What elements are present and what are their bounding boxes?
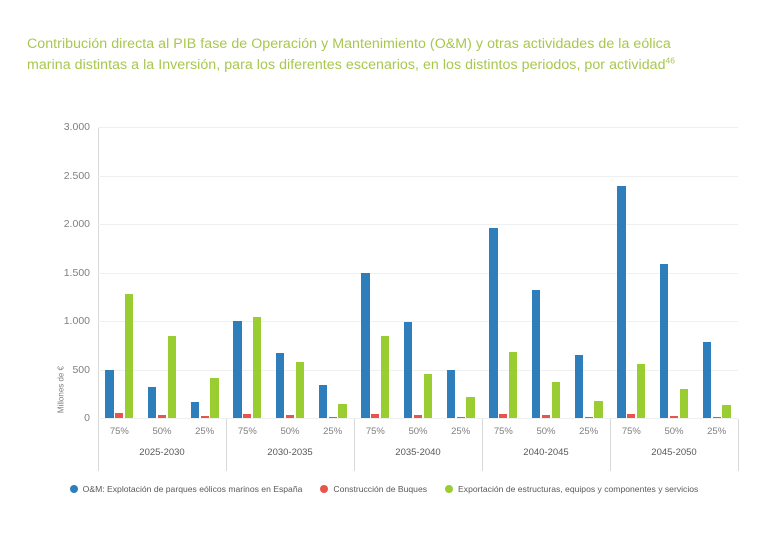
bar[interactable]: [253, 317, 261, 418]
x-axis-scenario-label: 75%: [494, 426, 513, 437]
bar[interactable]: [210, 378, 218, 418]
gridline: [98, 224, 738, 225]
legend-marker-icon: [70, 485, 78, 493]
gridline: [98, 321, 738, 322]
bar[interactable]: [286, 415, 294, 418]
x-axis-scenario-label: 75%: [238, 426, 257, 437]
bar[interactable]: [713, 417, 721, 418]
chart-legend: O&M: Explotación de parques eólicos mari…: [0, 484, 768, 494]
bar[interactable]: [637, 364, 645, 418]
x-axis-scenario-label: 75%: [110, 426, 129, 437]
bar[interactable]: [125, 294, 133, 418]
legend-item[interactable]: Construcción de Buques: [320, 484, 427, 494]
bar[interactable]: [105, 370, 113, 418]
bar[interactable]: [552, 382, 560, 418]
x-axis-group-separator: [98, 419, 99, 471]
legend-item[interactable]: O&M: Explotación de parques eólicos mari…: [70, 484, 303, 494]
bar[interactable]: [424, 374, 432, 418]
bar[interactable]: [499, 414, 507, 418]
bar[interactable]: [509, 352, 517, 418]
title-line-1: Contribución directa al PIB fase de Oper…: [27, 36, 594, 52]
bar[interactable]: [466, 397, 474, 418]
x-axis-group-separator: [738, 419, 739, 471]
bar[interactable]: [404, 322, 412, 418]
plot-area: [98, 127, 738, 418]
bar[interactable]: [532, 290, 540, 418]
bar[interactable]: [489, 228, 497, 418]
bar[interactable]: [457, 417, 465, 418]
legend-item-label: Exportación de estructuras, equipos y co…: [458, 484, 698, 494]
y-axis-tick-label: 2.500: [30, 170, 90, 182]
y-axis-tick-label: 1.000: [30, 315, 90, 327]
bar[interactable]: [542, 415, 550, 418]
bar[interactable]: [296, 362, 304, 418]
bar[interactable]: [329, 417, 337, 418]
bar[interactable]: [371, 414, 379, 418]
bar[interactable]: [575, 355, 583, 418]
legend-marker-icon: [445, 485, 453, 493]
x-axis-scenario-label: 50%: [152, 426, 171, 437]
y-axis-tick-label: 500: [30, 364, 90, 376]
bar[interactable]: [319, 385, 327, 418]
x-axis-period-label: 2045-2050: [651, 447, 696, 458]
x-axis-period-label: 2040-2045: [523, 447, 568, 458]
bar[interactable]: [381, 336, 389, 418]
bar[interactable]: [361, 273, 369, 419]
y-axis-tick-label: 3.000: [30, 121, 90, 133]
gridline: [98, 127, 738, 128]
x-axis-scenario-label: 25%: [323, 426, 342, 437]
y-axis-title: Millones de €: [57, 330, 66, 450]
bar[interactable]: [338, 404, 346, 418]
x-axis-scenario-label: 75%: [366, 426, 385, 437]
bar[interactable]: [660, 264, 668, 418]
bar[interactable]: [168, 336, 176, 418]
x-axis-scenario-label: 50%: [408, 426, 427, 437]
legend-item-label: Construcción de Buques: [333, 484, 427, 494]
x-axis: 75%50%25%2025-203075%50%25%2030-203575%5…: [98, 419, 738, 471]
x-axis-group-separator: [226, 419, 227, 471]
bar[interactable]: [670, 416, 678, 418]
legend-item[interactable]: Exportación de estructuras, equipos y co…: [445, 484, 698, 494]
bar[interactable]: [414, 415, 422, 418]
bar[interactable]: [243, 414, 251, 418]
bar[interactable]: [722, 405, 730, 418]
gridline: [98, 273, 738, 274]
y-axis-tick-label: 1.500: [30, 267, 90, 279]
x-axis-scenario-label: 50%: [536, 426, 555, 437]
bar[interactable]: [148, 387, 156, 418]
bar[interactable]: [276, 353, 284, 418]
y-axis: Millones de € 05001.0001.5002.0002.5003.…: [28, 127, 90, 418]
bar[interactable]: [447, 370, 455, 418]
bar[interactable]: [680, 389, 688, 418]
bar[interactable]: [585, 417, 593, 418]
x-axis-scenario-label: 25%: [195, 426, 214, 437]
bar[interactable]: [191, 402, 199, 418]
x-axis-group-separator: [354, 419, 355, 471]
x-axis-scenario-label: 75%: [622, 426, 641, 437]
x-axis-group-separator: [482, 419, 483, 471]
title-line-3: periodos, por actividad: [522, 57, 666, 73]
bar[interactable]: [617, 186, 625, 418]
title-footnote-marker: 46: [666, 55, 676, 65]
x-axis-scenario-label: 50%: [664, 426, 683, 437]
bar[interactable]: [594, 401, 602, 418]
x-axis-period-label: 2035-2040: [395, 447, 440, 458]
gridline: [98, 176, 738, 177]
bar[interactable]: [115, 413, 123, 418]
bar[interactable]: [627, 414, 635, 418]
x-axis-scenario-label: 25%: [707, 426, 726, 437]
bar[interactable]: [233, 321, 241, 418]
y-axis-tick-label: 2.000: [30, 218, 90, 230]
x-axis-scenario-label: 50%: [280, 426, 299, 437]
x-axis-scenario-label: 25%: [579, 426, 598, 437]
x-axis-group-separator: [610, 419, 611, 471]
legend-marker-icon: [320, 485, 328, 493]
page-title: Contribución directa al PIB fase de Oper…: [27, 34, 697, 75]
bar[interactable]: [158, 415, 166, 418]
x-axis-period-label: 2030-2035: [267, 447, 312, 458]
bar[interactable]: [703, 342, 711, 418]
bar[interactable]: [201, 416, 209, 418]
x-axis-scenario-label: 25%: [451, 426, 470, 437]
x-axis-period-label: 2025-2030: [139, 447, 184, 458]
legend-item-label: O&M: Explotación de parques eólicos mari…: [83, 484, 303, 494]
y-axis-tick-label: 0: [30, 412, 90, 424]
